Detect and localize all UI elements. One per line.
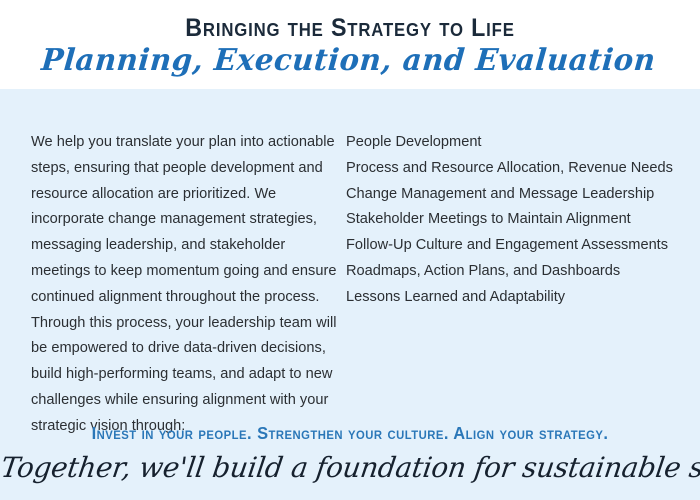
body-paragraph: We help you translate your plan into act… xyxy=(31,130,343,440)
page-title: Bringing the Strategy to Life xyxy=(25,15,676,41)
list-item: People Development xyxy=(346,130,691,156)
header-band: Bringing the Strategy to Life Planning, … xyxy=(0,0,700,89)
footer-headline: Invest in your people. Strengthen your c… xyxy=(21,424,679,443)
list-item: Process and Resource Allocation, Revenue… xyxy=(346,156,691,182)
list-item: Roadmaps, Action Plans, and Dashboards xyxy=(346,259,691,285)
list-item: Stakeholder Meetings to Maintain Alignme… xyxy=(346,207,691,233)
list-item: Change Management and Message Leadership xyxy=(346,182,691,208)
main-content: We help you translate your plan into act… xyxy=(0,89,700,411)
footer-band: Invest in your people. Strengthen your c… xyxy=(0,411,700,500)
list-item: Follow-Up Culture and Engagement Assessm… xyxy=(346,233,691,259)
list-item: Lessons Learned and Adaptability xyxy=(346,285,691,311)
slide-canvas: Bringing the Strategy to Life Planning, … xyxy=(0,0,700,500)
deliverables-list: People Development Process and Resource … xyxy=(346,130,691,311)
page-subtitle: Planning, Execution, and Evaluation xyxy=(7,44,689,79)
footer-script-tagline: Together, we'll build a foundation for s… xyxy=(0,451,697,485)
